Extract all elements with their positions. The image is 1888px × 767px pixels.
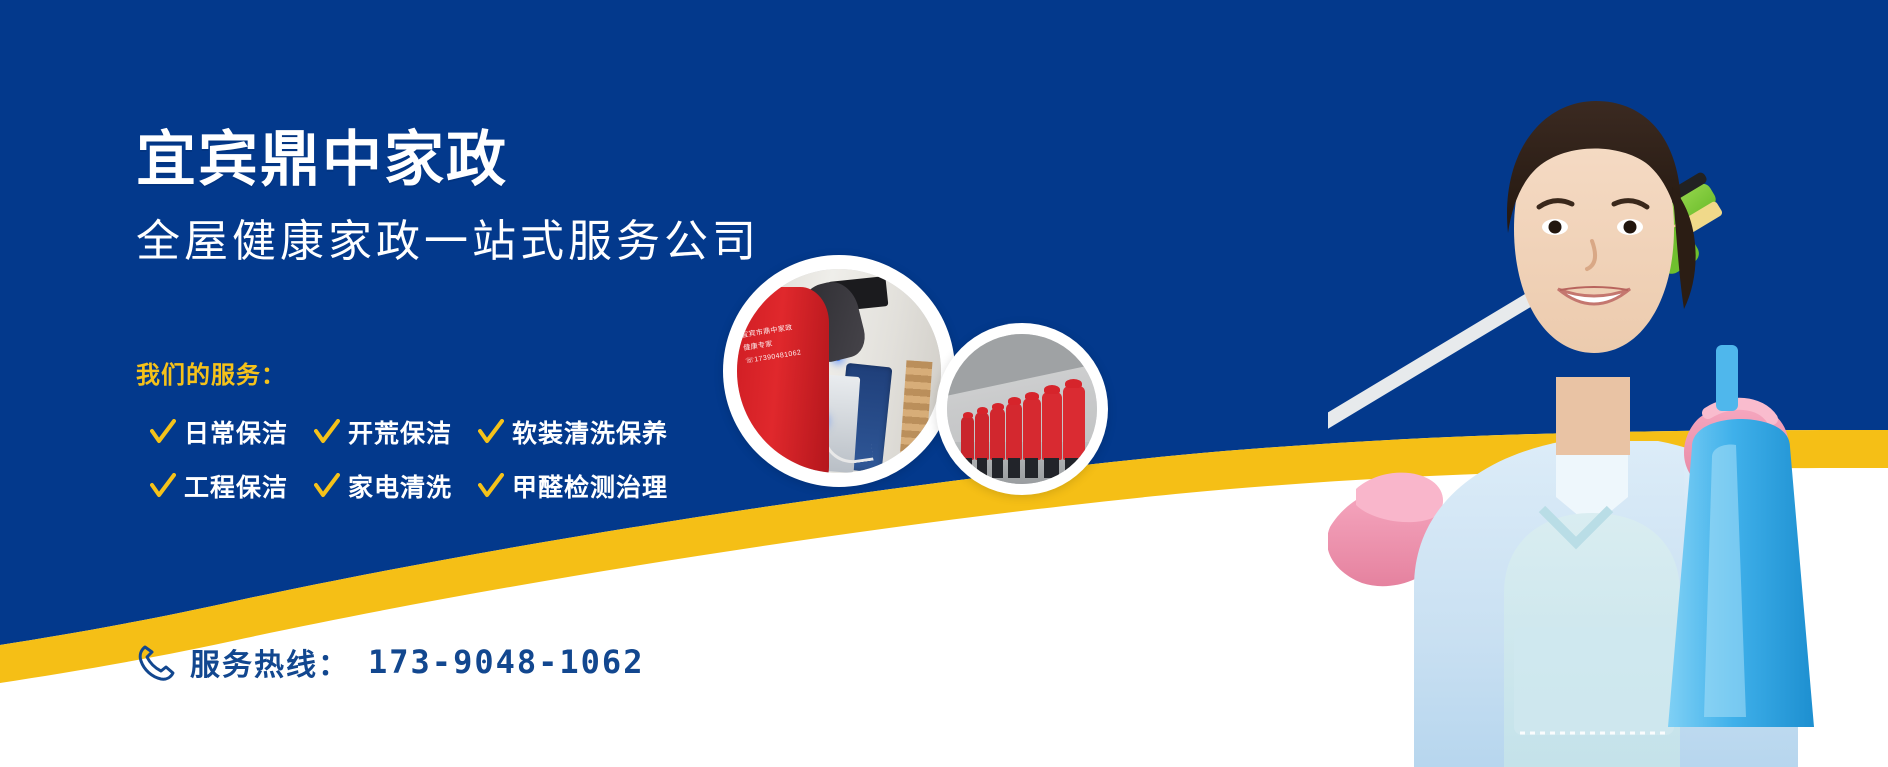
check-mark-icon [314,419,340,445]
check-mark-icon [150,419,176,445]
service-item-label: 家电清洗 [348,468,452,504]
check-mark-icon [478,473,504,499]
services-row: 工程保洁 家电清洗 甲醛检测治理 [150,459,694,513]
brand-subtitle: 全屋健康家政一站式服务公司 [136,220,760,264]
page-title: 宜宾鼎中家政 [136,130,508,190]
service-item[interactable]: 日常保洁 [150,414,288,450]
banner-content: 宜宾鼎中家政 全屋健康家政一站式服务公司 我们的服务： 日常保洁 开荒保洁 [0,0,1888,767]
services-row: 日常保洁 开荒保洁 软装清洗保养 [150,405,694,459]
service-item[interactable]: 家电清洗 [314,468,452,504]
hotline-number[interactable]: 173-9048-1062 [368,643,644,681]
service-item-label: 工程保洁 [184,468,288,504]
service-item-label: 甲醛检测治理 [512,468,668,504]
service-item-label: 日常保洁 [184,414,288,450]
hotline-label: 服务热线： [190,640,350,684]
promo-banner: 宜宾市鼎中家政 健康专家 ☏17390481062 [0,0,1888,767]
service-item[interactable]: 甲醛检测治理 [478,468,668,504]
service-item[interactable]: 软装清洗保养 [478,414,668,450]
check-mark-icon [314,473,340,499]
service-item-label: 开荒保洁 [348,414,452,450]
service-item[interactable]: 开荒保洁 [314,414,452,450]
phone-handset-icon [136,642,176,682]
services-label: 我们的服务： [136,364,286,388]
hotline-block[interactable]: 服务热线： 173-9048-1062 [136,640,644,684]
check-mark-icon [150,473,176,499]
service-item[interactable]: 工程保洁 [150,468,288,504]
service-item-label: 软装清洗保养 [512,414,668,450]
services-list: 日常保洁 开荒保洁 软装清洗保养 [150,405,694,513]
check-mark-icon [478,419,504,445]
